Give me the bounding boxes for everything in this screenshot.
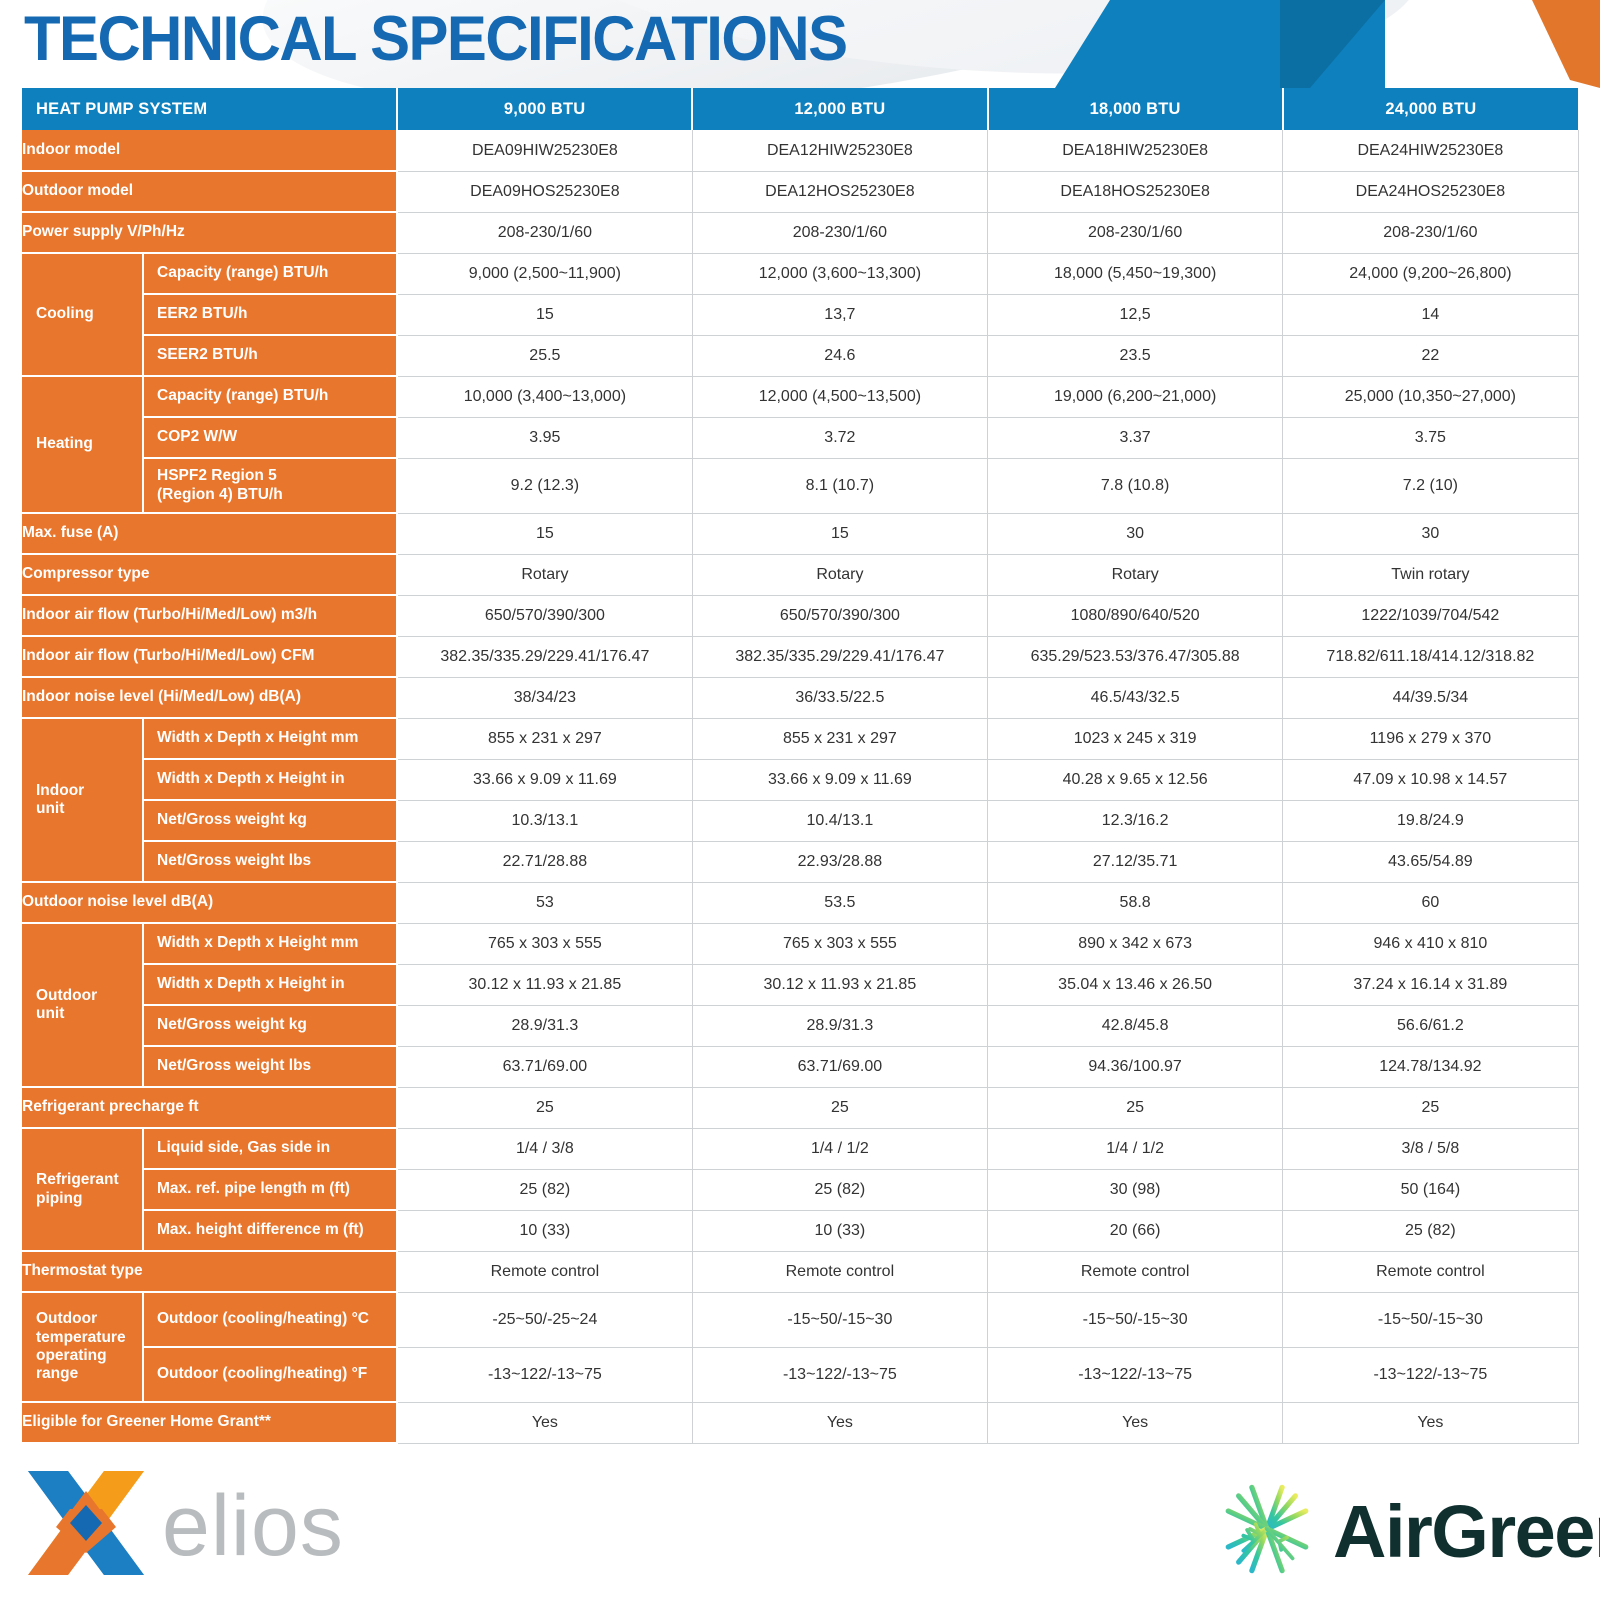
table-cell: 10 (33) <box>692 1210 987 1251</box>
table-cell: 9.2 (12.3) <box>397 458 692 513</box>
table-header-capacity-4: 24,000 BTU <box>1283 88 1578 130</box>
spec-sheet-page: TECHNICAL SPECIFICATIONS HEAT PUMP SYSTE… <box>0 0 1600 1600</box>
table-cell: -15~50/-15~30 <box>692 1292 987 1347</box>
table-cell: 22 <box>1283 335 1578 376</box>
specifications-table-wrapper: HEAT PUMP SYSTEM9,000 BTU12,000 BTU18,00… <box>22 88 1578 1444</box>
table-cell: 94.36/100.97 <box>988 1046 1283 1087</box>
table-row: Indoor air flow (Turbo/Hi/Med/Low) CFM38… <box>22 636 1578 677</box>
elios-wordmark: elios <box>162 1483 344 1569</box>
table-cell: 7.8 (10.8) <box>988 458 1283 513</box>
page-title: TECHNICAL SPECIFICATIONS <box>24 6 847 72</box>
table-row: Indoor air flow (Turbo/Hi/Med/Low) m3/h6… <box>22 595 1578 636</box>
table-cell: 3.95 <box>397 417 692 458</box>
table-cell: 44/39.5/34 <box>1283 677 1578 718</box>
table-cell: 10 (33) <box>397 1210 692 1251</box>
row-label-max-ref-pipe-length-m-ft: Max. ref. pipe length m (ft) <box>143 1169 397 1210</box>
table-row: Max. ref. pipe length m (ft)25 (82)25 (8… <box>22 1169 1578 1210</box>
table-cell: Yes <box>692 1402 987 1443</box>
table-cell: 25,000 (10,350~27,000) <box>1283 376 1578 417</box>
table-cell: 43.65/54.89 <box>1283 841 1578 882</box>
table-cell: 60 <box>1283 882 1578 923</box>
table-row: Net/Gross weight lbs22.71/28.8822.93/28.… <box>22 841 1578 882</box>
table-row: Outdoor modelDEA09HOS25230E8DEA12HOS2523… <box>22 171 1578 212</box>
table-head: HEAT PUMP SYSTEM9,000 BTU12,000 BTU18,00… <box>22 88 1578 130</box>
table-cell: -13~122/-13~75 <box>1283 1347 1578 1402</box>
row-label-width-x-depth-x-height-in: Width x Depth x Height in <box>143 759 397 800</box>
table-cell: 18,000 (5,450~19,300) <box>988 253 1283 294</box>
table-row: IndoorunitWidth x Depth x Height mm855 x… <box>22 718 1578 759</box>
table-cell: 946 x 410 x 810 <box>1283 923 1578 964</box>
table-cell: 124.78/134.92 <box>1283 1046 1578 1087</box>
table-header-capacity-3: 18,000 BTU <box>988 88 1283 130</box>
table-cell: 208-230/1/60 <box>1283 212 1578 253</box>
table-cell: 1/4 / 1/2 <box>692 1128 987 1169</box>
row-label-capacity-range-btu-h: Capacity (range) BTU/h <box>143 253 397 294</box>
table-cell: 25 <box>397 1087 692 1128</box>
row-label-indoor-model: Indoor model <box>22 130 397 171</box>
table-row: OutdoortemperatureoperatingrangeOutdoor … <box>22 1292 1578 1347</box>
table-header-capacity-2: 12,000 BTU <box>692 88 987 130</box>
table-row: EER2 BTU/h1513,712,514 <box>22 294 1578 335</box>
row-label-max-fuse-a: Max. fuse (A) <box>22 513 397 554</box>
table-cell: 30 <box>1283 513 1578 554</box>
table-cell: 765 x 303 x 555 <box>692 923 987 964</box>
table-row: Outdoor (cooling/heating) °F-13~122/-13~… <box>22 1347 1578 1402</box>
table-cell: DEA24HOS25230E8 <box>1283 171 1578 212</box>
row-label-outdoor-unit: Outdoorunit <box>22 923 143 1087</box>
table-cell: Rotary <box>397 554 692 595</box>
table-row: RefrigerantpipingLiquid side, Gas side i… <box>22 1128 1578 1169</box>
table-cell: 3.37 <box>988 417 1283 458</box>
table-cell: 3.75 <box>1283 417 1578 458</box>
row-label-power-supply-v-ph-hz: Power supply V/Ph/Hz <box>22 212 397 253</box>
table-cell: 25 (82) <box>692 1169 987 1210</box>
table-cell: 30 (98) <box>988 1169 1283 1210</box>
table-cell: 53 <box>397 882 692 923</box>
table-cell: 12,000 (3,600~13,300) <box>692 253 987 294</box>
table-cell: 19.8/24.9 <box>1283 800 1578 841</box>
table-cell: Remote control <box>692 1251 987 1292</box>
table-cell: 855 x 231 x 297 <box>397 718 692 759</box>
table-cell: 15 <box>692 513 987 554</box>
specifications-table: HEAT PUMP SYSTEM9,000 BTU12,000 BTU18,00… <box>22 88 1579 1444</box>
table-cell: Remote control <box>988 1251 1283 1292</box>
table-cell: Rotary <box>988 554 1283 595</box>
table-cell: 22.93/28.88 <box>692 841 987 882</box>
table-cell: 3/8 / 5/8 <box>1283 1128 1578 1169</box>
table-cell: Yes <box>988 1402 1283 1443</box>
table-cell: -15~50/-15~30 <box>988 1292 1283 1347</box>
table-cell: 635.29/523.53/376.47/305.88 <box>988 636 1283 677</box>
row-label-outdoor-cooling-heating-c: Outdoor (cooling/heating) °C <box>143 1292 397 1347</box>
table-cell: 718.82/611.18/414.12/318.82 <box>1283 636 1578 677</box>
table-cell: 28.9/31.3 <box>692 1005 987 1046</box>
row-label-width-x-depth-x-height-in: Width x Depth x Height in <box>143 964 397 1005</box>
table-row: Compressor typeRotaryRotaryRotaryTwin ro… <box>22 554 1578 595</box>
table-cell: -13~122/-13~75 <box>988 1347 1283 1402</box>
table-cell: Yes <box>1283 1402 1578 1443</box>
table-cell: DEA12HIW25230E8 <box>692 130 987 171</box>
row-label-thermostat-type: Thermostat type <box>22 1251 397 1292</box>
table-cell: 15 <box>397 294 692 335</box>
table-header-row: HEAT PUMP SYSTEM9,000 BTU12,000 BTU18,00… <box>22 88 1578 130</box>
row-label-cop2-w-w: COP2 W/W <box>143 417 397 458</box>
table-cell: 46.5/43/32.5 <box>988 677 1283 718</box>
row-label-liquid-side-gas-side-in: Liquid side, Gas side in <box>143 1128 397 1169</box>
row-label-refrigerant-precharge-ft: Refrigerant precharge ft <box>22 1087 397 1128</box>
table-cell: 1/4 / 1/2 <box>988 1128 1283 1169</box>
table-cell: 382.35/335.29/229.41/176.47 <box>397 636 692 677</box>
table-cell: Remote control <box>397 1251 692 1292</box>
table-cell: 382.35/335.29/229.41/176.47 <box>692 636 987 677</box>
table-cell: 9,000 (2,500~11,900) <box>397 253 692 294</box>
table-row: Net/Gross weight kg10.3/13.110.4/13.112.… <box>22 800 1578 841</box>
table-cell: 765 x 303 x 555 <box>397 923 692 964</box>
row-label-width-x-depth-x-height-mm: Width x Depth x Height mm <box>143 923 397 964</box>
table-cell: 38/34/23 <box>397 677 692 718</box>
row-label-indoor-noise-level-hi-med-low-db-a: Indoor noise level (Hi/Med/Low) dB(A) <box>22 677 397 718</box>
row-label-refrigerant-piping: Refrigerantpiping <box>22 1128 143 1251</box>
table-cell: 20 (66) <box>988 1210 1283 1251</box>
elios-logo: elios <box>24 1461 344 1585</box>
table-row: COP2 W/W3.953.723.373.75 <box>22 417 1578 458</box>
table-row: Width x Depth x Height in33.66 x 9.09 x … <box>22 759 1578 800</box>
table-cell: 24,000 (9,200~26,800) <box>1283 253 1578 294</box>
table-cell: DEA24HIW25230E8 <box>1283 130 1578 171</box>
table-cell: 13,7 <box>692 294 987 335</box>
table-cell: DEA18HOS25230E8 <box>988 171 1283 212</box>
table-cell: 30.12 x 11.93 x 21.85 <box>397 964 692 1005</box>
table-cell: 25 <box>988 1087 1283 1128</box>
table-cell: 7.2 (10) <box>1283 458 1578 513</box>
table-cell: 14 <box>1283 294 1578 335</box>
table-cell: 25 <box>1283 1087 1578 1128</box>
table-cell: 40.28 x 9.65 x 12.56 <box>988 759 1283 800</box>
table-cell: 208-230/1/60 <box>988 212 1283 253</box>
row-label-seer2-btu-h: SEER2 BTU/h <box>143 335 397 376</box>
table-row: HSPF2 Region 5(Region 4) BTU/h9.2 (12.3)… <box>22 458 1578 513</box>
row-label-max-height-difference-m-ft: Max. height difference m (ft) <box>143 1210 397 1251</box>
row-label-compressor-type: Compressor type <box>22 554 397 595</box>
table-cell: 1222/1039/704/542 <box>1283 595 1578 636</box>
table-cell: DEA12HOS25230E8 <box>692 171 987 212</box>
table-cell: -15~50/-15~30 <box>1283 1292 1578 1347</box>
table-cell: 1080/890/640/520 <box>988 595 1283 636</box>
table-row: Outdoor noise level dB(A)5353.558.860 <box>22 882 1578 923</box>
table-cell: 36/33.5/22.5 <box>692 677 987 718</box>
table-row: Indoor modelDEA09HIW25230E8DEA12HIW25230… <box>22 130 1578 171</box>
table-row: Max. height difference m (ft)10 (33)10 (… <box>22 1210 1578 1251</box>
table-cell: 12.3/16.2 <box>988 800 1283 841</box>
table-row: Indoor noise level (Hi/Med/Low) dB(A)38/… <box>22 677 1578 718</box>
table-cell: 25 (82) <box>1283 1210 1578 1251</box>
table-row: SEER2 BTU/h25.524.623.522 <box>22 335 1578 376</box>
table-row: OutdoorunitWidth x Depth x Height mm765 … <box>22 923 1578 964</box>
table-cell: 855 x 231 x 297 <box>692 718 987 759</box>
table-row: Width x Depth x Height in30.12 x 11.93 x… <box>22 964 1578 1005</box>
row-label-net-gross-weight-kg: Net/Gross weight kg <box>143 800 397 841</box>
row-label-indoor-air-flow-turbo-hi-med-low-m3-h: Indoor air flow (Turbo/Hi/Med/Low) m3/h <box>22 595 397 636</box>
table-cell: 12,5 <box>988 294 1283 335</box>
row-label-eer2-btu-h: EER2 BTU/h <box>143 294 397 335</box>
table-cell: 58.8 <box>988 882 1283 923</box>
table-row: Eligible for Greener Home Grant**YesYesY… <box>22 1402 1578 1443</box>
row-label-net-gross-weight-lbs: Net/Gross weight lbs <box>143 1046 397 1087</box>
table-body: Indoor modelDEA09HIW25230E8DEA12HIW25230… <box>22 130 1578 1443</box>
table-cell: 10,000 (3,400~13,000) <box>397 376 692 417</box>
table-cell: 890 x 342 x 673 <box>988 923 1283 964</box>
row-label-cooling: Cooling <box>22 253 143 376</box>
table-cell: 47.09 x 10.98 x 14.57 <box>1283 759 1578 800</box>
airgreen-wordmark: AirGreen <box>1333 1495 1600 1569</box>
table-cell: 25 <box>692 1087 987 1128</box>
table-cell: 10.3/13.1 <box>397 800 692 841</box>
table-cell: 56.6/61.2 <box>1283 1005 1578 1046</box>
row-label-net-gross-weight-lbs: Net/Gross weight lbs <box>143 841 397 882</box>
row-label-outdoor-cooling-heating-f: Outdoor (cooling/heating) °F <box>143 1347 397 1402</box>
table-cell: 63.71/69.00 <box>692 1046 987 1087</box>
table-cell: 33.66 x 9.09 x 11.69 <box>397 759 692 800</box>
table-cell: 23.5 <box>988 335 1283 376</box>
table-cell: 8.1 (10.7) <box>692 458 987 513</box>
table-cell: 208-230/1/60 <box>692 212 987 253</box>
table-cell: DEA18HIW25230E8 <box>988 130 1283 171</box>
table-cell: -13~122/-13~75 <box>692 1347 987 1402</box>
table-cell: -25~50/-25~24 <box>397 1292 692 1347</box>
table-cell: Twin rotary <box>1283 554 1578 595</box>
table-cell: 24.6 <box>692 335 987 376</box>
table-cell: 37.24 x 16.14 x 31.89 <box>1283 964 1578 1005</box>
table-cell: 19,000 (6,200~21,000) <box>988 376 1283 417</box>
row-label-outdoor-noise-level-db-a: Outdoor noise level dB(A) <box>22 882 397 923</box>
table-cell: 15 <box>397 513 692 554</box>
row-label-net-gross-weight-kg: Net/Gross weight kg <box>143 1005 397 1046</box>
table-cell: Remote control <box>1283 1251 1578 1292</box>
table-cell: 1023 x 245 x 319 <box>988 718 1283 759</box>
table-cell: 3.72 <box>692 417 987 458</box>
row-label-hspf2-region-5-region-4-btu-h: HSPF2 Region 5(Region 4) BTU/h <box>143 458 397 513</box>
table-cell: -13~122/-13~75 <box>397 1347 692 1402</box>
table-cell: 25 (82) <box>397 1169 692 1210</box>
row-label-indoor-air-flow-turbo-hi-med-low-cfm: Indoor air flow (Turbo/Hi/Med/Low) CFM <box>22 636 397 677</box>
elios-x-mark-icon <box>24 1461 148 1585</box>
row-label-capacity-range-btu-h: Capacity (range) BTU/h <box>143 376 397 417</box>
table-cell: Rotary <box>692 554 987 595</box>
table-cell: 10.4/13.1 <box>692 800 987 841</box>
table-row: Net/Gross weight kg28.9/31.328.9/31.342.… <box>22 1005 1578 1046</box>
table-cell: 30.12 x 11.93 x 21.85 <box>692 964 987 1005</box>
airgreen-logo: AirGreen <box>1215 1477 1600 1586</box>
row-label-width-x-depth-x-height-mm: Width x Depth x Height mm <box>143 718 397 759</box>
table-cell: 50 (164) <box>1283 1169 1578 1210</box>
row-label-indoor-unit: Indoorunit <box>22 718 143 882</box>
table-row: Power supply V/Ph/Hz208-230/1/60208-230/… <box>22 212 1578 253</box>
table-cell: 650/570/390/300 <box>692 595 987 636</box>
table-cell: 53.5 <box>692 882 987 923</box>
table-cell: 42.8/45.8 <box>988 1005 1283 1046</box>
table-cell: 25.5 <box>397 335 692 376</box>
table-cell: 22.71/28.88 <box>397 841 692 882</box>
table-cell: 63.71/69.00 <box>397 1046 692 1087</box>
table-row: Max. fuse (A)15153030 <box>22 513 1578 554</box>
table-cell: 650/570/390/300 <box>397 595 692 636</box>
row-label-heating: Heating <box>22 376 143 513</box>
table-row: Refrigerant precharge ft25252525 <box>22 1087 1578 1128</box>
row-label-eligible-for-greener-home-grant: Eligible for Greener Home Grant** <box>22 1402 397 1443</box>
table-row: CoolingCapacity (range) BTU/h9,000 (2,50… <box>22 253 1578 294</box>
orange-triangle-shape <box>1510 0 1600 88</box>
table-cell: 30 <box>988 513 1283 554</box>
table-cell: 35.04 x 13.46 x 26.50 <box>988 964 1283 1005</box>
table-cell: 28.9/31.3 <box>397 1005 692 1046</box>
table-cell: DEA09HOS25230E8 <box>397 171 692 212</box>
table-cell: Yes <box>397 1402 692 1443</box>
table-cell: 27.12/35.71 <box>988 841 1283 882</box>
row-label-outdoor-temperature-operating-range: Outdoortemperatureoperatingrange <box>22 1292 143 1402</box>
table-cell: 1196 x 279 x 370 <box>1283 718 1578 759</box>
airgreen-burst-icon <box>1215 1477 1319 1586</box>
table-row: Net/Gross weight lbs63.71/69.0063.71/69.… <box>22 1046 1578 1087</box>
footer-logos: elios <box>0 1455 1600 1600</box>
table-header-heat-pump-system: HEAT PUMP SYSTEM <box>22 88 397 130</box>
table-header-capacity-1: 9,000 BTU <box>397 88 692 130</box>
table-cell: 1/4 / 3/8 <box>397 1128 692 1169</box>
table-cell: DEA09HIW25230E8 <box>397 130 692 171</box>
table-row: Thermostat typeRemote controlRemote cont… <box>22 1251 1578 1292</box>
table-row: HeatingCapacity (range) BTU/h10,000 (3,4… <box>22 376 1578 417</box>
table-cell: 33.66 x 9.09 x 11.69 <box>692 759 987 800</box>
row-label-outdoor-model: Outdoor model <box>22 171 397 212</box>
table-cell: 12,000 (4,500~13,500) <box>692 376 987 417</box>
table-cell: 208-230/1/60 <box>397 212 692 253</box>
